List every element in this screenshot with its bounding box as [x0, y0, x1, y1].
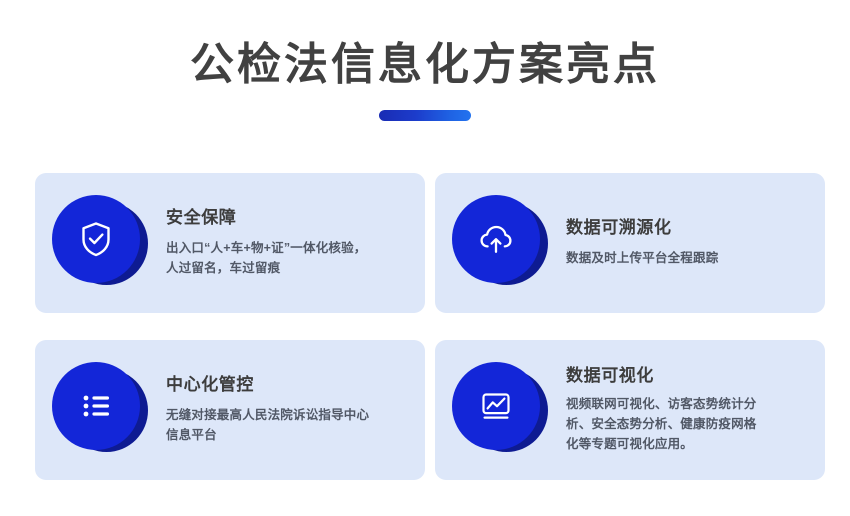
card-description: 无缝对接最高人民法院诉讼指导中心信息平台 — [166, 405, 376, 445]
icon-badge-circle — [52, 195, 140, 283]
card-text: 中心化管控 无缝对接最高人民法院诉讼指导中心信息平台 — [166, 374, 376, 447]
card-title: 安全保障 — [166, 207, 376, 229]
highlight-card-grid: 安全保障 出入口“人+车+物+证”一体化核验，人过留名，车过留痕 — [35, 173, 825, 480]
card-text: 安全保障 出入口“人+车+物+证”一体化核验，人过留名，车过留痕 — [166, 207, 376, 280]
icon-badge — [52, 195, 148, 291]
shield-check-icon — [75, 218, 117, 260]
card-description: 出入口“人+车+物+证”一体化核验，人过留名，车过留痕 — [166, 238, 376, 278]
bullet-list-icon — [76, 386, 116, 426]
icon-badge — [452, 195, 548, 291]
card-description: 视频联网可视化、访客态势统计分析、安全态势分析、健康防疫网格化等专题可视化应用。 — [566, 394, 766, 454]
highlight-card-traceability[interactable]: 数据可溯源化 数据及时上传平台全程跟踪 — [435, 173, 825, 313]
card-description: 数据及时上传平台全程跟踪 — [566, 248, 718, 268]
card-title: 数据可溯源化 — [566, 217, 718, 239]
cloud-upload-icon — [474, 217, 518, 261]
highlight-card-central-control[interactable]: 中心化管控 无缝对接最高人民法院诉讼指导中心信息平台 — [35, 340, 425, 480]
highlights-page: 公检法信息化方案亮点 安全保障 出入口“人+车+物+证”一体化核验，人 — [0, 0, 850, 516]
title-underline-accent — [379, 110, 471, 121]
page-header: 公检法信息化方案亮点 — [0, 0, 850, 121]
icon-badge — [52, 362, 148, 458]
highlight-card-visualization[interactable]: 数据可视化 视频联网可视化、访客态势统计分析、安全态势分析、健康防疫网格化等专题… — [435, 340, 825, 480]
card-text: 数据可溯源化 数据及时上传平台全程跟踪 — [566, 217, 718, 270]
chart-monitor-icon — [475, 385, 517, 427]
icon-badge-circle — [52, 362, 140, 450]
highlight-card-security[interactable]: 安全保障 出入口“人+车+物+证”一体化核验，人过留名，车过留痕 — [35, 173, 425, 313]
card-title: 中心化管控 — [166, 374, 376, 396]
card-text: 数据可视化 视频联网可视化、访客态势统计分析、安全态势分析、健康防疫网格化等专题… — [566, 365, 766, 456]
icon-badge — [452, 362, 548, 458]
card-title: 数据可视化 — [566, 365, 766, 387]
page-title: 公检法信息化方案亮点 — [0, 36, 850, 94]
icon-badge-circle — [452, 362, 540, 450]
icon-badge-circle — [452, 195, 540, 283]
